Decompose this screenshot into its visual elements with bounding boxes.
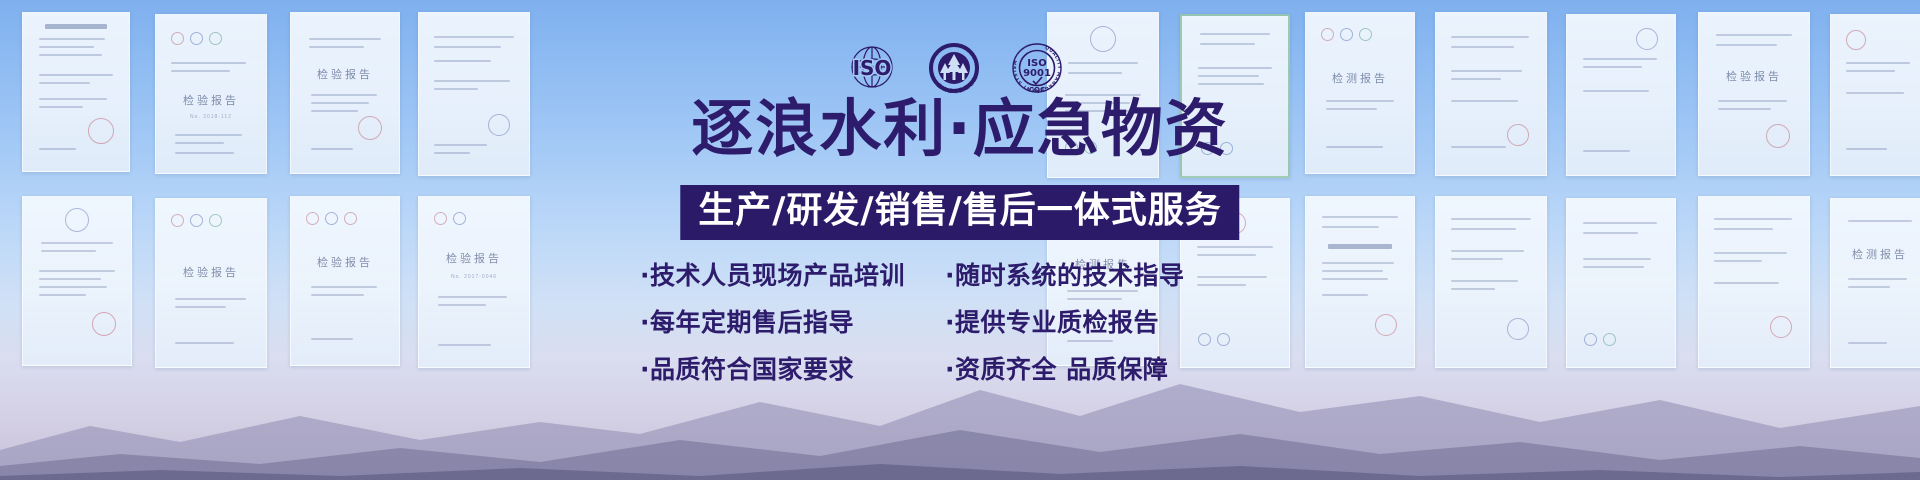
iso-9001-cqc-badge: QUALITY MANAGEMENT SYSTEM ISO 9001 CQC <box>1009 40 1065 96</box>
certification-badge-row: ISO ISO14000 环境管理体系认证 <box>845 40 1065 96</box>
banner-main-title: 逐浪水利·应急物资 <box>0 98 1920 160</box>
feature-item: ·随时系统的技术指导 <box>945 256 1280 292</box>
banner-subtitle-text: 生产/研发/销售/售后一体式服务 <box>698 192 1221 231</box>
feature-item: ·提供专业质检报告 <box>945 303 1280 339</box>
svg-text:ISO: ISO <box>853 56 892 80</box>
feature-row: ·每年定期售后指导 ·提供专业质检报告 <box>640 297 1280 344</box>
feature-row: ·品质符合国家要求 ·资质齐全 品质保障 <box>640 344 1280 391</box>
feature-item: ·技术人员现场产品培训 <box>640 256 945 292</box>
banner-subtitle-band: 生产/研发/销售/售后一体式服务 <box>680 185 1239 240</box>
banner-content: ISO ISO14000 环境管理体系认证 <box>0 0 1920 480</box>
feature-list: ·技术人员现场产品培训 ·随时系统的技术指导 ·每年定期售后指导 ·提供专业质检… <box>640 250 1280 391</box>
feature-item: ·资质齐全 品质保障 <box>945 350 1280 386</box>
feature-row: ·技术人员现场产品培训 ·随时系统的技术指导 <box>640 250 1280 297</box>
promo-banner: 检验报告 No. 2018-112 检验报告 <box>0 0 1920 480</box>
iso-14000-badge: ISO14000 环境管理体系认证 <box>927 41 981 95</box>
svg-text:9001: 9001 <box>1023 68 1051 79</box>
feature-item: ·品质符合国家要求 <box>640 350 945 386</box>
iso-globe-badge: ISO <box>845 41 899 95</box>
feature-item: ·每年定期售后指导 <box>640 303 945 339</box>
